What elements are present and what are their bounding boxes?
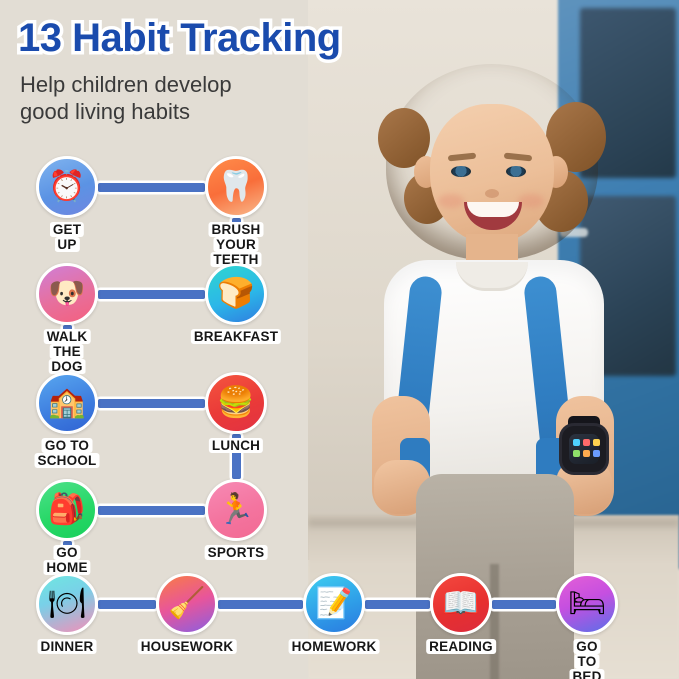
nose <box>485 189 499 198</box>
cheek-right <box>518 194 544 208</box>
connector-go-home-to-sports <box>98 506 205 515</box>
habit-node-lunch[interactable]: 🍔LUNCH <box>205 372 267 434</box>
notebook-pencil-icon-glyph: 📝 <box>315 589 352 619</box>
eye-left <box>451 166 471 177</box>
dog-icon[interactable]: 🐶 <box>36 263 98 325</box>
toast-egg-icon[interactable]: 🍞 <box>205 263 267 325</box>
habit-tracking-poster: 13 Habit Tracking Help children develop … <box>0 0 679 679</box>
bed-icon-glyph: 🛏 <box>568 589 606 619</box>
habit-label: SPORTS <box>205 545 268 560</box>
watch-app-dot-2 <box>583 439 590 446</box>
notebook-pencil-icon[interactable]: 📝 <box>303 573 365 635</box>
reading-child-icon-glyph: 📖 <box>442 589 479 619</box>
habit-label: LUNCH <box>209 438 263 453</box>
habit-label: READING <box>426 639 496 654</box>
habit-label: GO TOSCHOOL <box>35 438 100 468</box>
habit-label: BREAKFAST <box>191 329 281 344</box>
dog-icon-glyph: 🐶 <box>48 279 85 309</box>
eye-right <box>506 166 526 177</box>
connector-dinner-to-housework <box>98 600 156 609</box>
habit-node-homework[interactable]: 📝HOMEWORK <box>303 573 365 635</box>
alarm-clock-icon-glyph: ⏰ <box>48 172 85 202</box>
habit-node-go-to-bed[interactable]: 🛏GO TO BED <box>556 573 618 635</box>
hamburger-icon[interactable]: 🍔 <box>205 372 267 434</box>
habit-label: GO TO BED <box>569 639 604 679</box>
habit-node-sports[interactable]: 🏃SPORTS <box>205 479 267 541</box>
habit-label: WALKTHE DOG <box>44 329 91 374</box>
running-person-icon-glyph: 🏃 <box>217 495 254 525</box>
watch-app-dot-3 <box>593 439 600 446</box>
habit-node-walk-the-dog[interactable]: 🐶WALKTHE DOG <box>36 263 98 325</box>
page-subtitle: Help children develop good living habits <box>20 72 320 126</box>
school-building-icon[interactable]: 🏫 <box>36 372 98 434</box>
connector-reading-to-go-to-bed <box>492 600 556 609</box>
reading-child-icon[interactable]: 📖 <box>430 573 492 635</box>
page-title: 13 Habit Tracking <box>18 16 341 61</box>
connector-get-up-to-brush-your-teeth <box>98 183 205 192</box>
habit-label: HOUSEWORK <box>138 639 237 654</box>
habit-label: HOMEWORK <box>289 639 380 654</box>
connector-housework-to-homework <box>218 600 303 609</box>
habit-node-get-up[interactable]: ⏰GET UP <box>36 156 98 218</box>
toothbrush-tooth-icon-glyph: 🦷 <box>217 172 254 202</box>
watch-app-dot-1 <box>573 439 580 446</box>
hamburger-icon-glyph: 🍔 <box>217 388 254 418</box>
habit-node-housework[interactable]: 🧹HOUSEWORK <box>156 573 218 635</box>
habit-node-breakfast[interactable]: 🍞BREAKFAST <box>205 263 267 325</box>
broom-icon[interactable]: 🧹 <box>156 573 218 635</box>
habit-label: DINNER <box>38 639 97 654</box>
habit-label: BRUSHYOUR TEETH <box>208 222 263 267</box>
watch-app-dot-5 <box>583 450 590 457</box>
running-person-icon[interactable]: 🏃 <box>205 479 267 541</box>
food-cloche-icon[interactable]: 🍽 <box>36 573 98 635</box>
connector-homework-to-reading <box>365 600 430 609</box>
habit-node-go-to-school[interactable]: 🏫GO TOSCHOOL <box>36 372 98 434</box>
toothbrush-tooth-icon[interactable]: 🦷 <box>205 156 267 218</box>
habit-label: GO HOME <box>43 545 90 575</box>
food-cloche-icon-glyph: 🍽 <box>48 589 86 619</box>
habit-label: GET UP <box>50 222 84 252</box>
habit-node-brush-your-teeth[interactable]: 🦷BRUSHYOUR TEETH <box>205 156 267 218</box>
bed-icon[interactable]: 🛏 <box>556 573 618 635</box>
toast-egg-icon-glyph: 🍞 <box>217 279 254 309</box>
habit-node-dinner[interactable]: 🍽DINNER <box>36 573 98 635</box>
school-building-icon-glyph: 🏫 <box>48 388 85 418</box>
broom-icon-glyph: 🧹 <box>168 589 205 619</box>
habit-node-reading[interactable]: 📖READING <box>430 573 492 635</box>
backpack-icon-glyph: 🎒 <box>48 495 85 525</box>
watch-app-dot-4 <box>573 450 580 457</box>
cheek-left <box>438 194 464 208</box>
backpack-icon[interactable]: 🎒 <box>36 479 98 541</box>
connector-go-to-school-to-lunch <box>98 399 205 408</box>
connector-walk-the-dog-to-breakfast <box>98 290 205 299</box>
watch-app-dot-6 <box>593 450 600 457</box>
habit-node-go-home[interactable]: 🎒GO HOME <box>36 479 98 541</box>
teeth <box>467 202 519 217</box>
alarm-clock-icon[interactable]: ⏰ <box>36 156 98 218</box>
